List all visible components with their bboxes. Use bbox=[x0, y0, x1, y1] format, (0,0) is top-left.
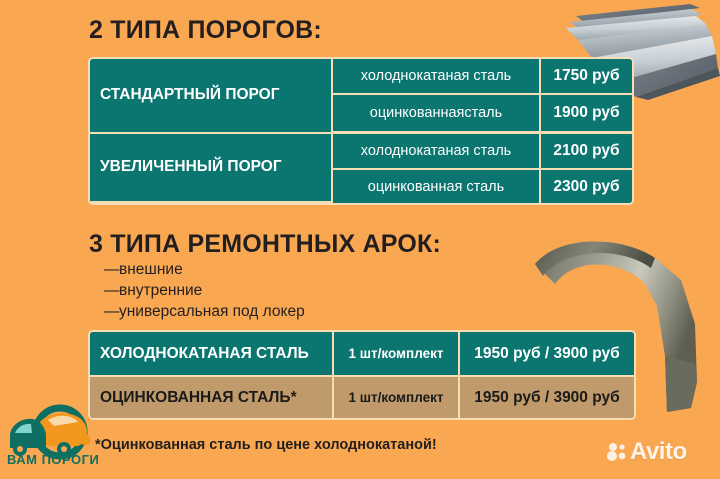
avito-dots-icon bbox=[607, 442, 627, 462]
sill-material: холоднокатаная сталь bbox=[333, 134, 541, 170]
arch-price: 1950 руб / 3900 руб bbox=[460, 332, 634, 377]
logo-text: ВАМ ПОРОГИ bbox=[7, 452, 99, 467]
avito-wordmark: Avito bbox=[630, 440, 687, 464]
page-title-sills: 2 ТИПА ПОРОГОВ: bbox=[89, 16, 322, 45]
table-row: УВЕЛИЧЕННЫЙ ПОРОГ холоднокатаная сталь 2… bbox=[90, 134, 632, 170]
promo-banner: 2 ТИПА ПОРОГОВ: СТАНДАРТНЫЙ ПОРОГ холодн… bbox=[0, 0, 720, 479]
table-row: ХОЛОДНОКАТАНАЯ СТАЛЬ 1 шт/комплект 1950 … bbox=[90, 332, 634, 377]
sill-material: оцинкованнаясталь bbox=[333, 95, 541, 133]
table-row: ОЦИНКОВАННАЯ СТАЛЬ* 1 шт/комплект 1950 р… bbox=[90, 377, 634, 418]
arch-types-list: — внешние — внутренние — универсальная п… bbox=[104, 260, 305, 323]
sill-material: оцинкованная сталь bbox=[333, 170, 541, 203]
list-item: — внутренние bbox=[104, 281, 305, 301]
arch-quantity: 1 шт/комплект bbox=[334, 377, 460, 418]
list-item-label: универсальная под локер bbox=[119, 302, 305, 322]
list-item: — внешние bbox=[104, 260, 305, 280]
sill-material: холоднокатаная сталь bbox=[333, 59, 541, 95]
arches-price-table: ХОЛОДНОКАТАНАЯ СТАЛЬ 1 шт/комплект 1950 … bbox=[88, 330, 636, 420]
dash-icon: — bbox=[104, 281, 119, 301]
list-item-label: внешние bbox=[119, 260, 183, 280]
table-row: СТАНДАРТНЫЙ ПОРОГ холоднокатаная сталь 1… bbox=[90, 59, 632, 95]
arch-quantity: 1 шт/комплект bbox=[334, 332, 460, 377]
dash-icon: — bbox=[104, 302, 119, 322]
sill-price: 2300 руб bbox=[541, 170, 632, 203]
sill-price: 1750 руб bbox=[541, 59, 632, 95]
sill-type-enlarged: УВЕЛИЧЕННЫЙ ПОРОГ bbox=[90, 134, 333, 203]
arch-material: ХОЛОДНОКАТАНАЯ СТАЛЬ bbox=[90, 332, 334, 377]
arch-price: 1950 руб / 3900 руб bbox=[460, 377, 634, 418]
sill-price: 1900 руб bbox=[541, 95, 632, 133]
sills-price-table: СТАНДАРТНЫЙ ПОРОГ холоднокатаная сталь 1… bbox=[88, 57, 634, 205]
avito-watermark: Avito bbox=[607, 440, 687, 464]
sill-type-standard: СТАНДАРТНЫЙ ПОРОГ bbox=[90, 59, 333, 134]
list-item-label: внутренние bbox=[119, 281, 202, 301]
sill-price: 2100 руб bbox=[541, 134, 632, 170]
dash-icon: — bbox=[104, 260, 119, 280]
page-title-arches: 3 ТИПА РЕМОНТНЫХ АРОК: bbox=[89, 230, 441, 259]
list-item: — универсальная под локер bbox=[104, 302, 305, 322]
footnote-text: *Оцинкованная сталь по цене холоднокатан… bbox=[95, 437, 437, 453]
arch-material: ОЦИНКОВАННАЯ СТАЛЬ* bbox=[90, 377, 334, 418]
